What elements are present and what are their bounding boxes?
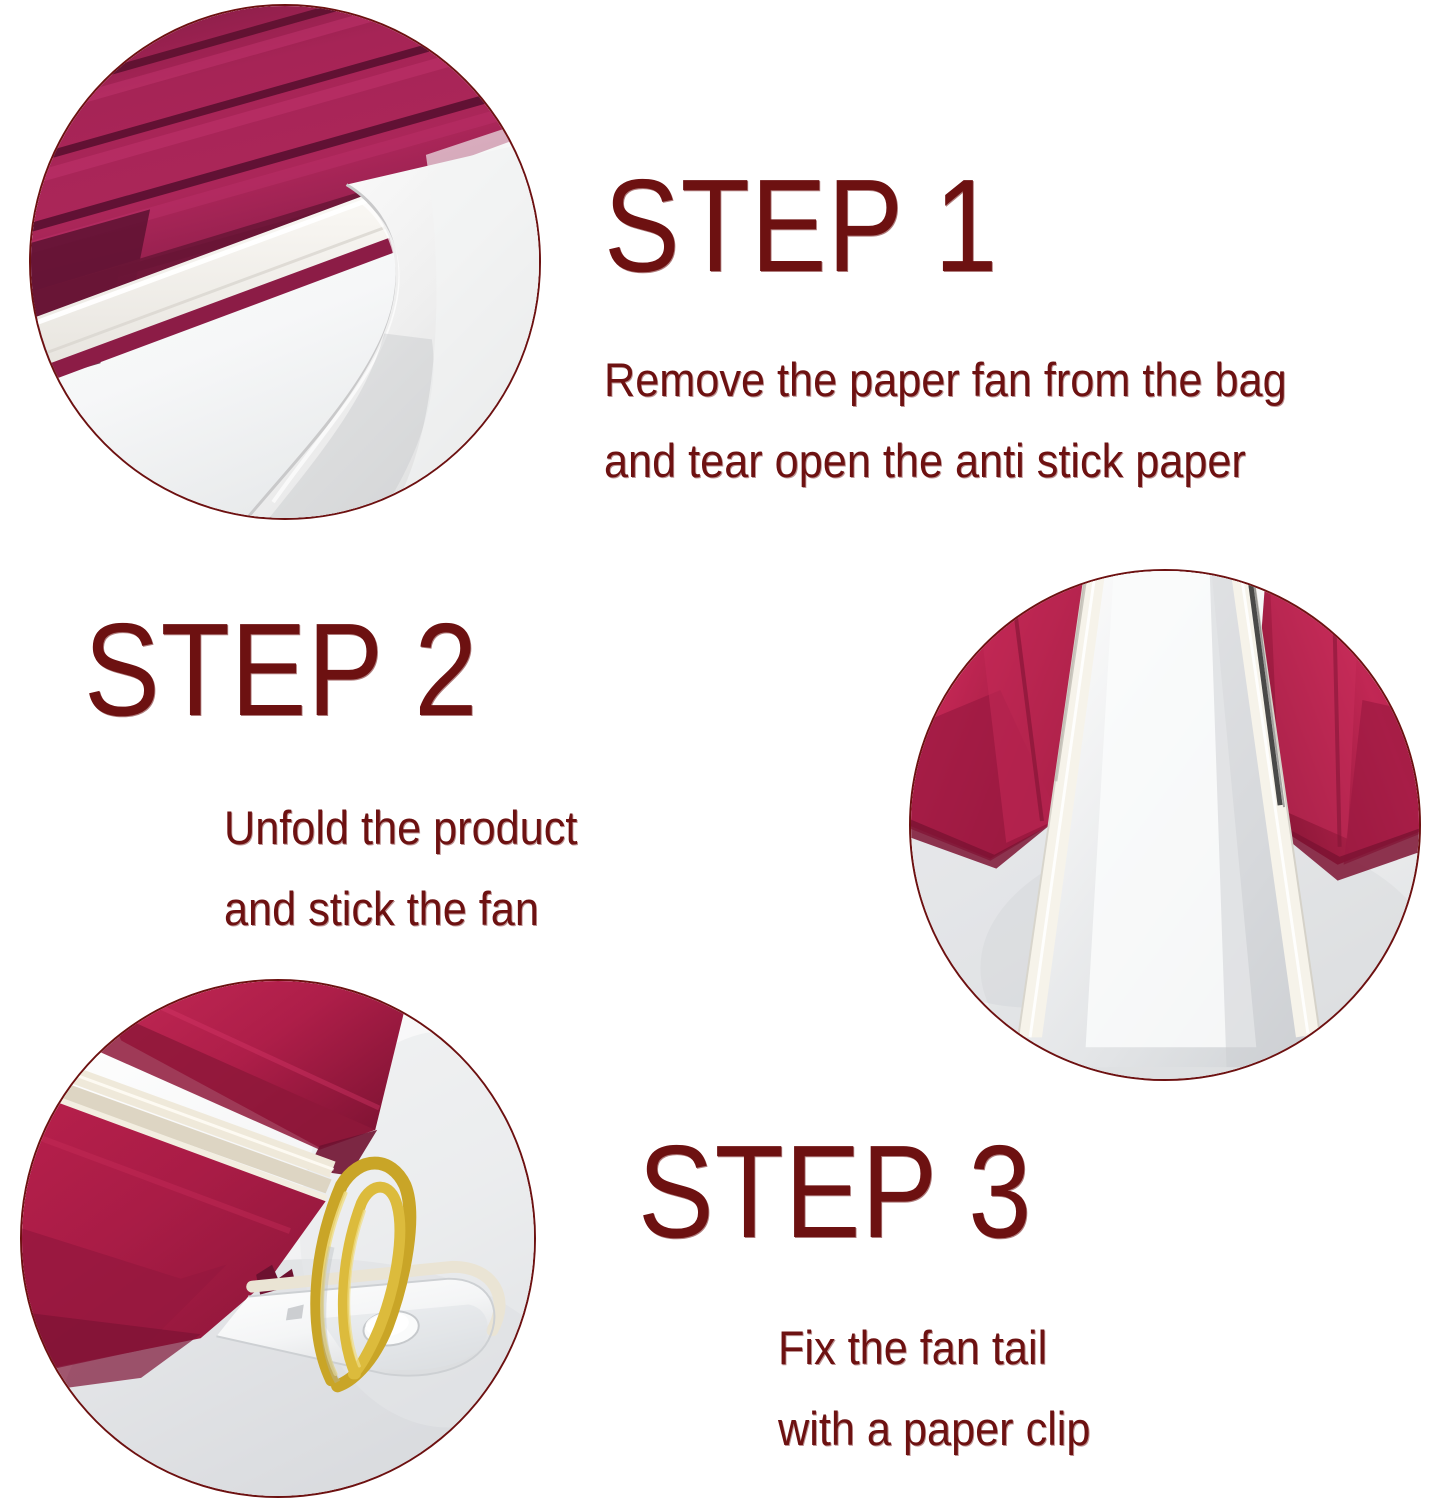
step-1-heading: STEP 1 — [604, 160, 1242, 292]
step-1-text-block: STEP 1 Remove the paper fan from the bag… — [604, 160, 1346, 502]
fan-tail-with-paper-clip-photo — [20, 979, 536, 1498]
step-3-body-line-1: Fix the fan tail — [778, 1308, 1090, 1389]
unfolded-fan-cone-photo — [909, 569, 1421, 1081]
step-2-text-block: STEP 2 Unfold the product and stick the … — [84, 604, 608, 950]
step-3-text-block: STEP 3 Fix the fan tail with a paper cli… — [638, 1126, 1118, 1470]
fan-tail-clip-illustration — [22, 981, 534, 1496]
instruction-infographic: STEP 1 Remove the paper fan from the bag… — [0, 0, 1444, 1500]
folded-fan-illustration — [31, 6, 539, 518]
step-2-heading: STEP 2 — [84, 604, 535, 736]
step-1-body-line-1: Remove the paper fan from the bag — [604, 340, 1287, 421]
step-3-heading: STEP 3 — [638, 1126, 1050, 1258]
step-3-body-line-2: with a paper clip — [778, 1389, 1090, 1470]
step-1-body-line-2: and tear open the anti stick paper — [604, 421, 1287, 502]
step-2-body: Unfold the product and stick the fan — [224, 788, 577, 950]
step-2-body-line-2: and stick the fan — [224, 869, 577, 950]
unfolded-fan-illustration — [911, 571, 1419, 1079]
folded-fan-with-adhesive-strip-photo — [29, 4, 541, 520]
step-3-body: Fix the fan tail with a paper clip — [778, 1308, 1090, 1470]
step-2-body-line-1: Unfold the product — [224, 788, 577, 869]
step-1-body: Remove the paper fan from the bag and te… — [604, 340, 1287, 502]
